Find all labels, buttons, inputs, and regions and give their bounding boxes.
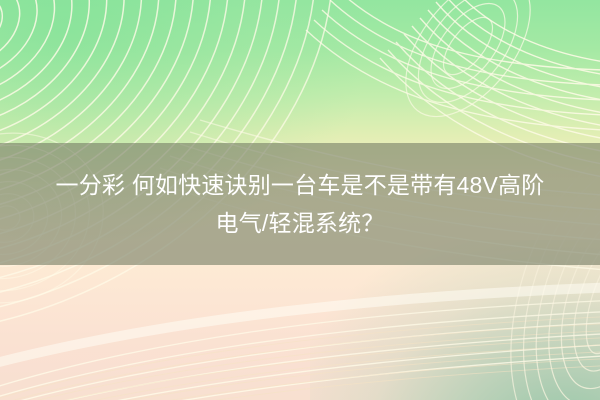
banner-image: 一分彩 何如快速诀别一台车是不是带有48V高阶 电气/轻混系统？ [0, 0, 600, 400]
caption-text: 一分彩 何如快速诀别一台车是不是带有48V高阶 电气/轻混系统？ [0, 143, 600, 265]
caption-line-1: 一分彩 何如快速诀别一台车是不是带有48V高阶 [54, 167, 547, 203]
caption-line-2: 电气/轻混系统？ [214, 205, 387, 241]
highlight-sweep [0, 282, 600, 372]
